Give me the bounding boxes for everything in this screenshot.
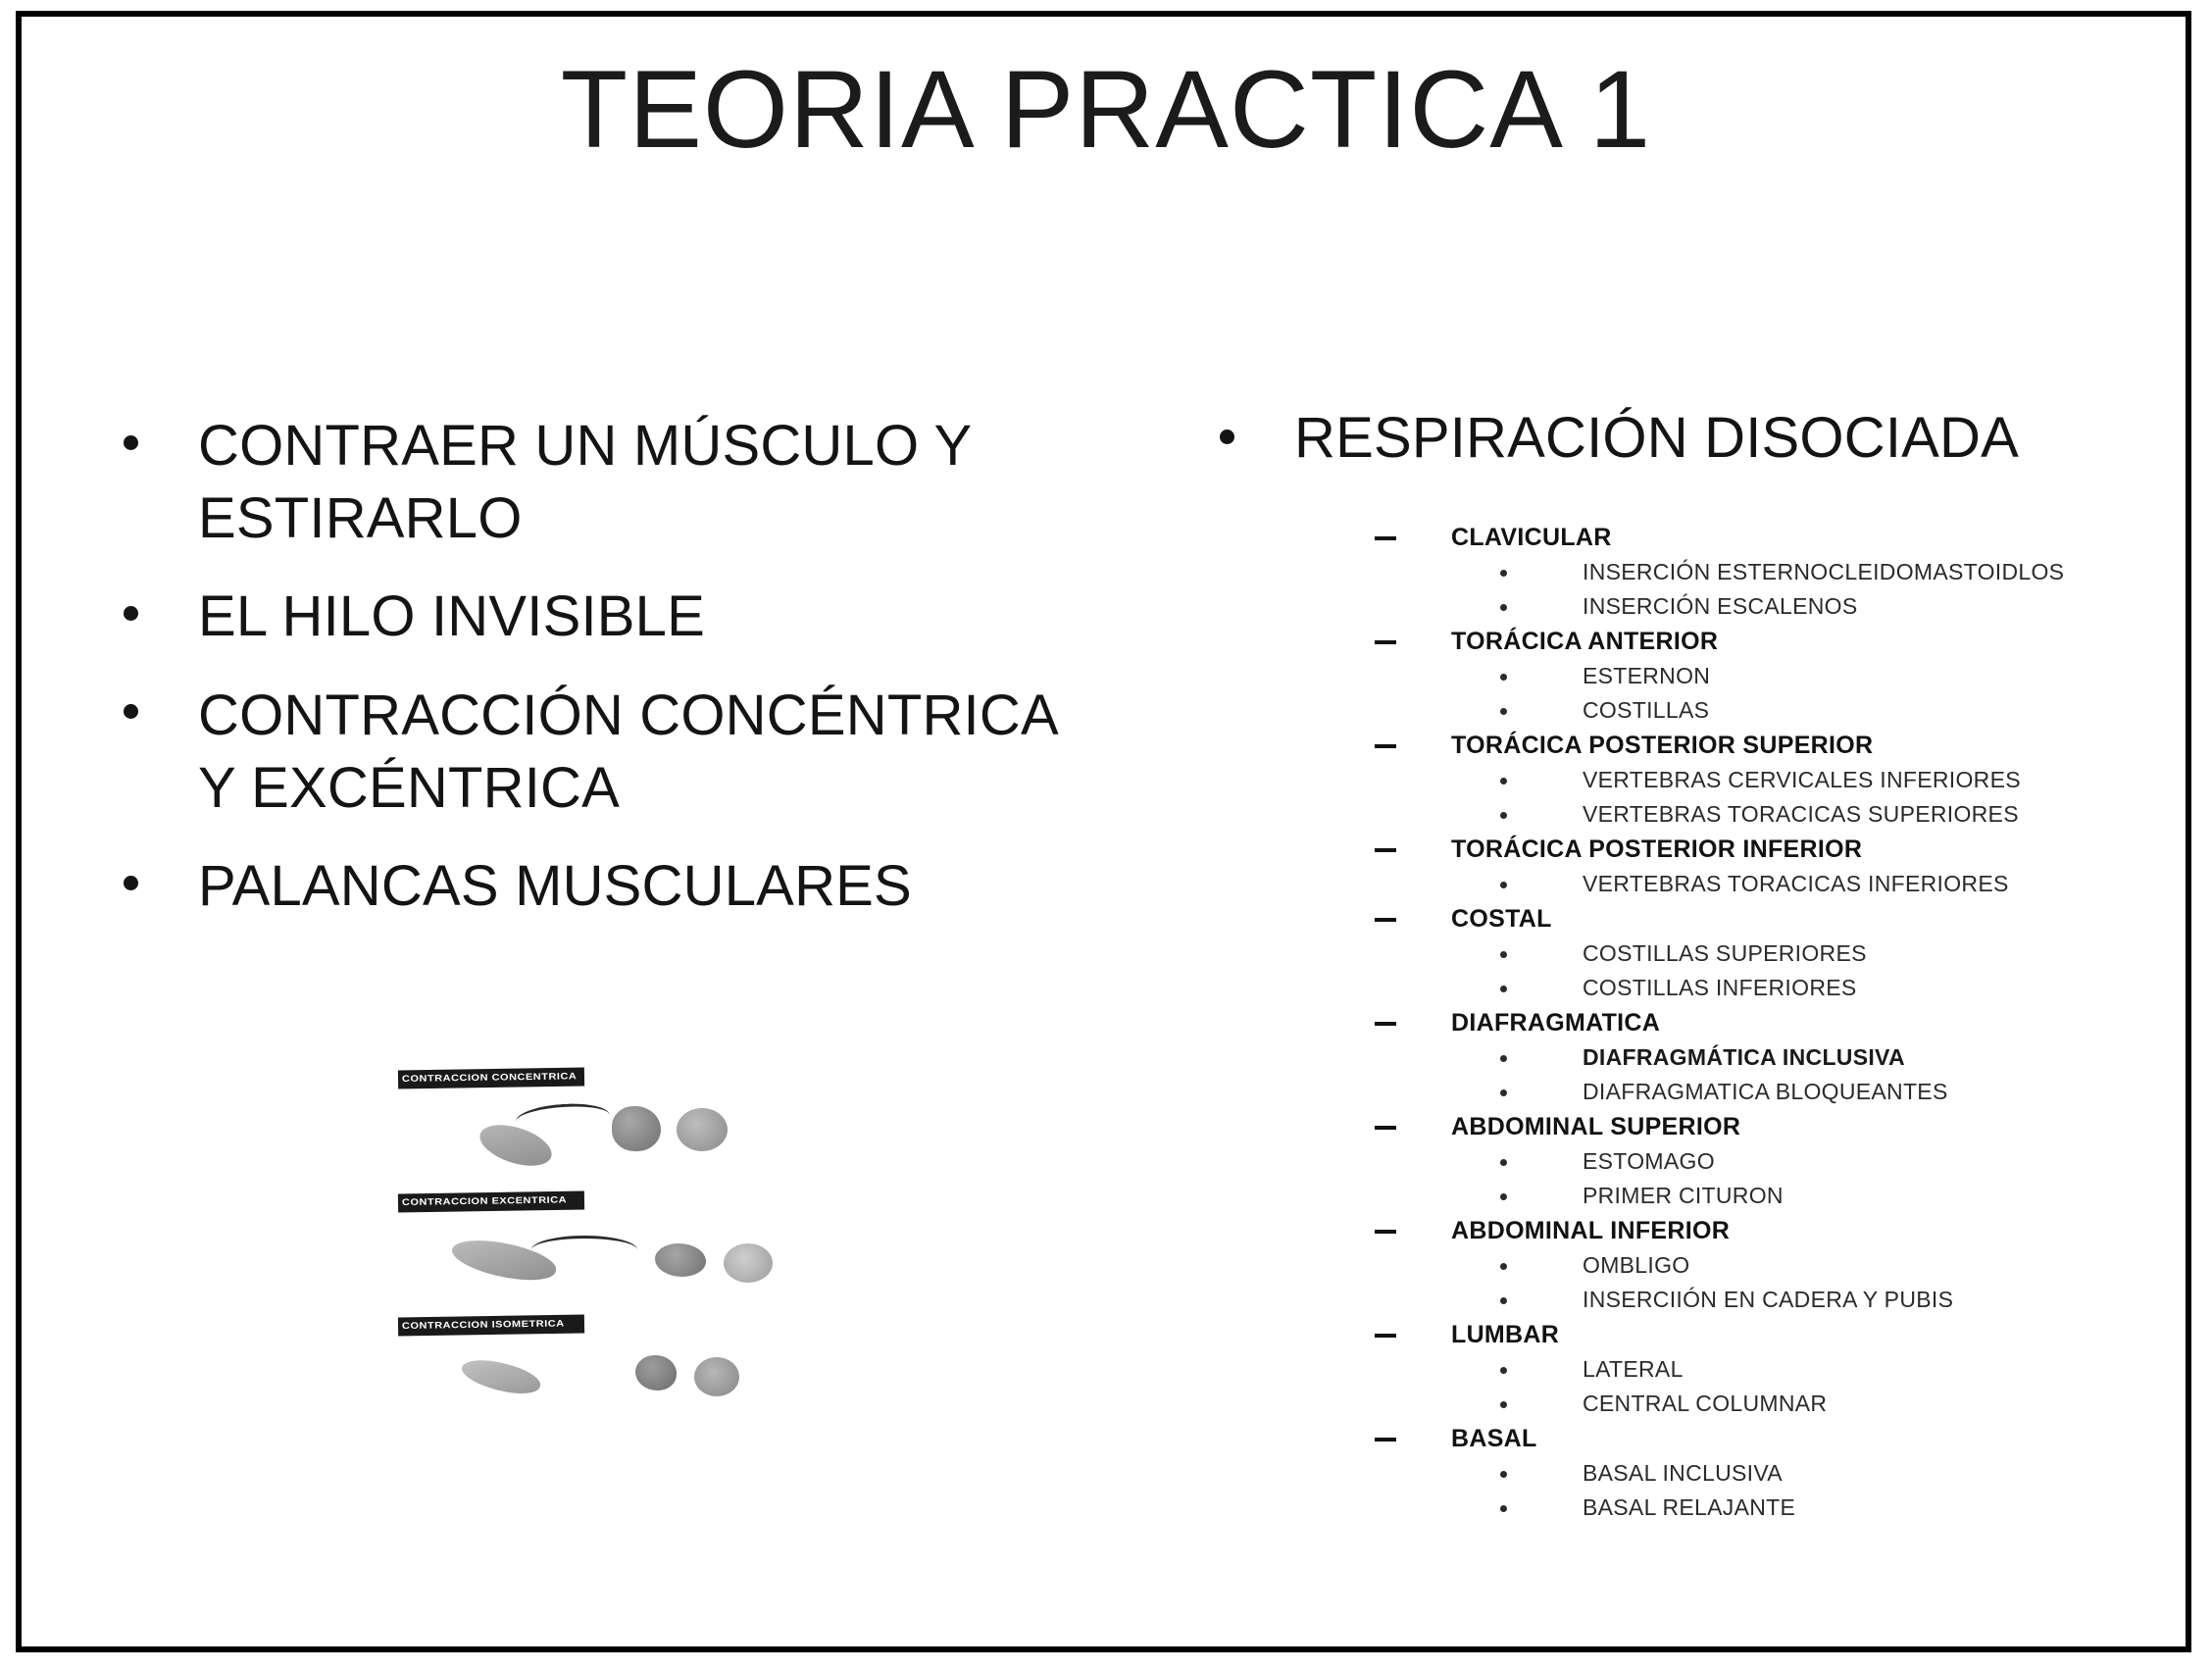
respiration-types-tree: CLAVICULARINSERCIÓN ESTERNOCLEIDOMASTOID… (1192, 526, 2183, 1519)
respiration-subitem-label: COSTILLAS (1583, 697, 1709, 723)
respiration-subitem[interactable]: INSERCIÓN ESTERNOCLEIDOMASTOIDLOS (1375, 561, 2183, 583)
respiration-subitem[interactable]: ESTOMAGO (1375, 1150, 2183, 1173)
page-title: TEORIA PRACTICA 1 (0, 51, 2212, 170)
respiration-subitem[interactable]: VERTEBRAS TORACICAS INFERIORES (1375, 873, 2183, 895)
dash-bullet-icon (1375, 640, 1396, 644)
dash-bullet-icon (1375, 1334, 1396, 1338)
respiration-subitem[interactable]: VERTEBRAS CERVICALES INFERIORES (1375, 769, 2183, 791)
respiration-subitem-label: COSTILLAS SUPERIORES (1583, 940, 1867, 966)
respiration-subitem-label: INSERCIIÓN EN CADERA Y PUBIS (1583, 1287, 1953, 1312)
bullet-dot-icon (1500, 708, 1507, 715)
bullet-dot-icon (1500, 812, 1507, 819)
respiration-subitem-label: VERTEBRAS TORACICAS SUPERIORES (1583, 801, 2019, 827)
bullet-dot-icon (1500, 1401, 1507, 1408)
bone-shape-a (635, 1355, 677, 1391)
respiration-subitem-label: INSERCIÓN ESTERNOCLEIDOMASTOIDLOS (1583, 559, 2064, 584)
list-item-line2: Y EXCÉNTRICA (198, 752, 1202, 825)
bullet-dot-icon (1500, 604, 1507, 611)
bullet-dot-icon (1500, 882, 1507, 888)
respiration-group-5[interactable]: COSTAL (1375, 907, 2183, 932)
respiration-group-label: TORÁCICA POSTERIOR INFERIOR (1451, 835, 1862, 863)
respiration-group-3[interactable]: TORÁCICA POSTERIOR SUPERIOR (1375, 734, 2183, 758)
bone-shape-a (612, 1106, 661, 1151)
respiration-subitem-label: OMBLIGO (1583, 1252, 1689, 1278)
respiration-subitem[interactable]: DIAFRAGMÁTICA INCLUSIVA (1375, 1046, 2183, 1069)
bone-shape-b (677, 1108, 728, 1151)
respiration-subitem-label: VERTEBRAS TORACICAS INFERIORES (1583, 871, 2009, 896)
diagram-label-bar: CONTRACCION EXCENTRICA (398, 1191, 584, 1213)
respiration-subitem[interactable]: DIAFRAGMATICA BLOQUEANTES (1375, 1081, 2183, 1103)
respiration-subitem[interactable]: COSTILLAS SUPERIORES (1375, 942, 2183, 965)
diagram-label-bar: CONTRACCION ISOMETRICA (398, 1315, 584, 1337)
bullet-dot-icon (1500, 1055, 1507, 1062)
list-item[interactable]: CONTRACCIÓN CONCÉNTRICA Y EXCÉNTRICA (94, 680, 1202, 825)
diagram-label-text: CONTRACCION EXCENTRICA (398, 1192, 584, 1211)
respiration-subitem-label: DIAFRAGMÁTICA INCLUSIVA (1583, 1044, 1905, 1070)
bullet-dot-icon (1500, 1471, 1507, 1478)
respiration-subitem-label: VERTEBRAS CERVICALES INFERIORES (1583, 767, 2021, 792)
bullet-dot-icon (1500, 778, 1507, 784)
respiration-group-label: COSTAL (1451, 905, 1552, 933)
respiration-group-label: TORÁCICA POSTERIOR SUPERIOR (1451, 732, 1873, 759)
bullet-dot-icon (124, 704, 138, 719)
bullet-dot-icon (1220, 430, 1234, 444)
respiration-subitem-label: ESTERNON (1583, 663, 1710, 688)
respiration-subitem-label: COSTILLAS INFERIORES (1583, 975, 1857, 1000)
diagram-row-eccentric: CONTRACCION EXCENTRICA (390, 1189, 812, 1312)
respiration-group-label: DIAFRAGMATICA (1451, 1009, 1660, 1037)
respiration-group-8[interactable]: ABDOMINAL INFERIOR (1375, 1219, 2183, 1243)
respiration-subitem[interactable]: CENTRAL COLUMNAR (1375, 1392, 2183, 1415)
bullet-dot-icon (1500, 674, 1507, 681)
respiration-subitem[interactable]: PRIMER CITURON (1375, 1185, 2183, 1207)
respiration-subitem-label: LATERAL (1583, 1356, 1684, 1382)
respiration-group-6[interactable]: DIAFRAGMATICA (1375, 1011, 2183, 1036)
respiration-group-label: ABDOMINAL INFERIOR (1451, 1217, 1730, 1244)
bullet-dot-icon (1500, 951, 1507, 958)
dash-bullet-icon (1375, 744, 1396, 748)
bullet-dot-icon (124, 606, 138, 621)
diagram-label-text: CONTRACCION ISOMETRICA (398, 1316, 584, 1335)
respiration-subitem[interactable]: INSERCIIÓN EN CADERA Y PUBIS (1375, 1289, 2183, 1311)
respiration-subitem[interactable]: COSTILLAS INFERIORES (1375, 977, 2183, 999)
motion-arrow-icon (531, 1236, 637, 1264)
list-item-line1: EL HILO INVISIBLE (198, 581, 1202, 653)
dash-bullet-icon (1375, 1230, 1396, 1234)
bone-shape-b (724, 1243, 773, 1283)
respiration-group-9[interactable]: LUMBAR (1375, 1323, 2183, 1347)
bullet-dot-icon (1500, 1193, 1507, 1200)
respiration-subitem-label: PRIMER CITURON (1583, 1183, 1784, 1208)
list-item-line1: PALANCAS MUSCULARES (198, 850, 1202, 923)
list-item[interactable]: PALANCAS MUSCULARES (94, 850, 1202, 923)
respiracion-disociada-label: RESPIRACIÓN DISOCIADA (1294, 406, 2019, 470)
respiration-group-7[interactable]: ABDOMINAL SUPERIOR (1375, 1115, 2183, 1139)
bullet-dot-icon (1500, 1159, 1507, 1166)
dash-bullet-icon (1375, 536, 1396, 540)
respiration-subitem[interactable]: INSERCIÓN ESCALENOS (1375, 595, 2183, 618)
respiration-subitem[interactable]: OMBLIGO (1375, 1254, 2183, 1277)
respiration-group-1[interactable]: CLAVICULAR (1375, 526, 2183, 550)
left-bullet-list: CONTRAER UN MÚSCULO Y ESTIRARLO EL HILO … (94, 410, 1202, 948)
list-item-line2: ESTIRARLO (198, 482, 1202, 555)
bullet-dot-icon (1500, 1263, 1507, 1270)
respiration-subitem-label: BASAL INCLUSIVA (1583, 1460, 1783, 1486)
respiration-subitem[interactable]: BASAL INCLUSIVA (1375, 1462, 2183, 1485)
respiration-subitem[interactable]: ESTERNON (1375, 665, 2183, 687)
bullet-dot-icon (1500, 1297, 1507, 1304)
respiration-group-label: TORÁCICA ANTERIOR (1451, 628, 1718, 655)
respiration-group-label: ABDOMINAL SUPERIOR (1451, 1113, 1740, 1140)
list-item-line1: CONTRACCIÓN CONCÉNTRICA (198, 680, 1202, 752)
right-bullet-list: RESPIRACIÓN DISOCIADA CLAVICULARINSERCIÓ… (1192, 404, 2183, 1531)
dash-bullet-icon (1375, 918, 1396, 922)
bullet-dot-icon (124, 876, 138, 890)
respiration-subitem-label: ESTOMAGO (1583, 1148, 1715, 1174)
dash-bullet-icon (1375, 848, 1396, 852)
dash-bullet-icon (1375, 1438, 1396, 1442)
respiration-subitem[interactable]: BASAL RELAJANTE (1375, 1496, 2183, 1519)
respiration-subitem-label: BASAL RELAJANTE (1583, 1494, 1795, 1520)
dash-bullet-icon (1375, 1022, 1396, 1026)
diagram-row-concentric: CONTRACCION CONCENTRICA (390, 1065, 812, 1189)
list-item-line1: CONTRAER UN MÚSCULO Y (198, 410, 1202, 482)
respiration-subitem[interactable]: COSTILLAS (1375, 699, 2183, 722)
respiracion-disociada-heading[interactable]: RESPIRACIÓN DISOCIADA (1192, 404, 2183, 473)
respiration-group-10[interactable]: BASAL (1375, 1427, 2183, 1451)
list-item[interactable]: CONTRAER UN MÚSCULO Y ESTIRARLO (94, 410, 1202, 555)
bullet-dot-icon (1500, 1505, 1507, 1512)
respiration-group-2[interactable]: TORÁCICA ANTERIOR (1375, 630, 2183, 654)
respiration-subitem[interactable]: LATERAL (1375, 1358, 2183, 1381)
diagram-row-isometric: CONTRACCION ISOMETRICA (390, 1312, 812, 1436)
bone-shape-a (655, 1243, 706, 1277)
dash-bullet-icon (1375, 1126, 1396, 1130)
respiration-subitem-label: DIAFRAGMATICA BLOQUEANTES (1583, 1079, 1948, 1104)
muscle-belly-shape (459, 1353, 543, 1399)
bullet-dot-icon (124, 435, 138, 450)
bullet-dot-icon (1500, 570, 1507, 577)
respiration-subitem-label: INSERCIÓN ESCALENOS (1583, 593, 1858, 619)
respiration-subitem[interactable]: VERTEBRAS TORACICAS SUPERIORES (1375, 803, 2183, 826)
list-item[interactable]: EL HILO INVISIBLE (94, 581, 1202, 653)
motion-arrow-icon (515, 1101, 611, 1137)
slide-canvas: TEORIA PRACTICA 1 CONTRAER UN MÚSCULO Y … (0, 0, 2212, 1670)
respiration-group-label: BASAL (1451, 1425, 1537, 1452)
respiration-group-label: LUMBAR (1451, 1321, 1559, 1348)
diagram-label-text: CONTRACCION CONCENTRICA (398, 1069, 584, 1088)
respiration-subitem-label: CENTRAL COLUMNAR (1583, 1391, 1827, 1416)
respiration-group-label: CLAVICULAR (1451, 524, 1612, 551)
bullet-dot-icon (1500, 1367, 1507, 1374)
diagram-label-bar: CONTRACCION CONCENTRICA (398, 1068, 584, 1089)
muscle-contraction-diagrams: CONTRACCION CONCENTRICA CONTRACCION EXCE… (390, 1065, 812, 1440)
bullet-dot-icon (1500, 1089, 1507, 1096)
bone-shape-b (694, 1357, 739, 1396)
respiration-group-4[interactable]: TORÁCICA POSTERIOR INFERIOR (1375, 837, 2183, 862)
bullet-dot-icon (1500, 986, 1507, 992)
